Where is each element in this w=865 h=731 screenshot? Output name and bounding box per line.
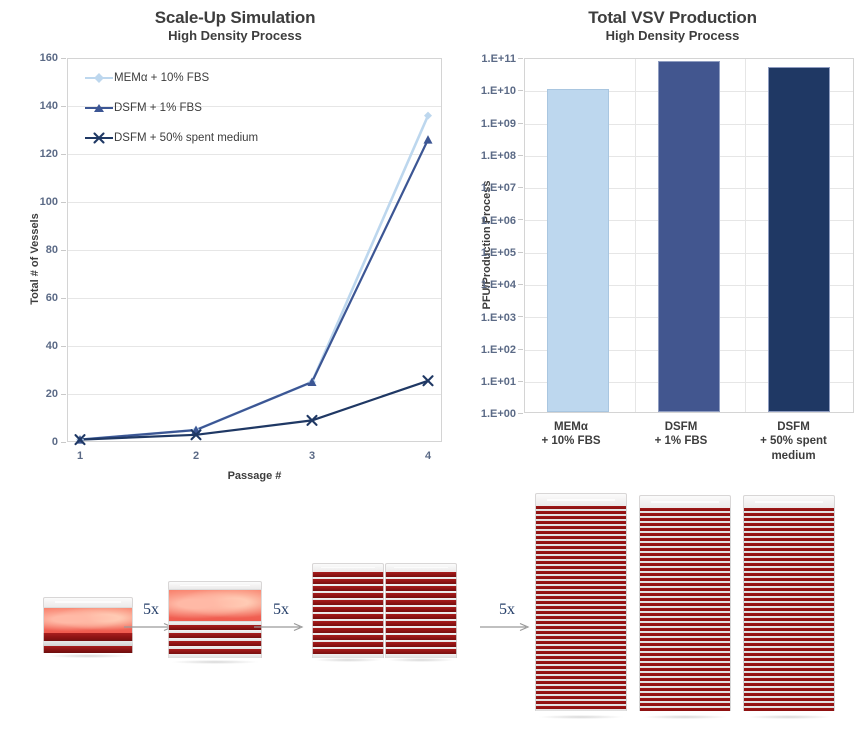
legend-item-mem-alpha: MEMα + 10% FBS (85, 72, 209, 84)
bar-y-tick-1e08: 1.E+08 (464, 150, 516, 162)
total-vsv-production-chart: Total VSV Production High Density Proces… (450, 0, 865, 480)
line-x-tick-4: 4 (414, 450, 442, 462)
bar-category-dsfm-spent-line1: DSFM (736, 420, 851, 434)
bar-category-dsfm-1pct: DSFM + 1% FBS (626, 420, 736, 449)
bar-y-tick-1e01: 1.E+01 (464, 376, 516, 388)
bar-y-tick-1e03: 1.E+03 (464, 312, 516, 324)
forty-layer-tower-2 (639, 495, 731, 715)
legend-label-mem-alpha: MEMα + 10% FBS (114, 72, 209, 84)
bar-y-tick-1e10: 1.E+10 (464, 85, 516, 97)
bar-chart-subtitle: High Density Process (485, 28, 860, 44)
bar-category-mem-alpha-line2: + 10% FBS (516, 434, 626, 448)
bar-y-tick-1e06: 1.E+06 (464, 215, 516, 227)
bar-chart-plot-area (524, 58, 854, 413)
ten-layer-stack-right (385, 563, 457, 659)
forty-layer-tower-1 (535, 493, 627, 715)
forty-layer-tower-3 (743, 495, 835, 715)
scale-up-process-diagram: 5x 5x (0, 480, 865, 731)
line-x-tick-1: 1 (66, 450, 94, 462)
vessel-stage-forty-layer-triple (535, 493, 835, 718)
process-arrow-2-label: 5x (252, 602, 310, 618)
ten-layer-stack-left (312, 563, 384, 659)
legend-swatch-triangle-icon (85, 102, 113, 114)
bar-category-mem-alpha-line1: MEMα (516, 420, 626, 434)
vessel-stage-ten-layer-double (312, 563, 457, 663)
legend-label-dsfm-1pct: DSFM + 1% FBS (114, 102, 202, 114)
bar-y-tick-1e02: 1.E+02 (464, 344, 516, 356)
bar-y-tick-1e07: 1.E+07 (464, 182, 516, 194)
bar-category-dsfm-1pct-line1: DSFM (626, 420, 736, 434)
line-x-tick-2: 2 (182, 450, 210, 462)
bar-chart-title: Total VSV Production (485, 8, 860, 28)
legend-swatch-cross-icon (85, 132, 113, 144)
bar-y-tick-1e05: 1.E+05 (464, 247, 516, 259)
bar-mem-alpha-10pct-fbs (547, 89, 609, 412)
bar-category-dsfm-1pct-line2: + 1% FBS (626, 434, 736, 448)
bar-y-tick-1e11: 1.E+11 (464, 53, 516, 65)
line-chart-series-svg (0, 0, 450, 480)
legend-item-dsfm-1pct: DSFM + 1% FBS (85, 102, 202, 114)
legend-label-dsfm-spent: DSFM + 50% spent medium (114, 132, 258, 144)
bar-y-tick-1e00: 1.E+00 (464, 408, 516, 420)
bar-y-tick-1e04: 1.E+04 (464, 279, 516, 291)
bar-y-tick-1e09: 1.E+09 (464, 118, 516, 130)
bar-category-mem-alpha: MEMα + 10% FBS (516, 420, 626, 449)
arrow-right-icon-3 (478, 621, 536, 633)
line-x-tick-3: 3 (298, 450, 326, 462)
bar-dsfm-1pct-fbs (658, 61, 720, 412)
bar-category-dsfm-spent-line2: + 50% spent (736, 434, 851, 448)
process-arrow-3-label: 5x (478, 602, 536, 618)
process-arrow-2: 5x (252, 602, 310, 633)
scale-up-simulation-chart: Scale-Up Simulation High Density Process… (0, 0, 450, 480)
legend-item-dsfm-spent: DSFM + 50% spent medium (85, 132, 258, 144)
bar-dsfm-50pct-spent-medium (768, 67, 830, 412)
process-arrow-3: 5x (478, 602, 536, 633)
bar-category-dsfm-spent: DSFM + 50% spent medium (736, 420, 851, 463)
legend-swatch-diamond-icon (85, 72, 113, 84)
arrow-right-icon-2 (252, 621, 310, 633)
bar-category-dsfm-spent-line3: medium (736, 449, 851, 463)
